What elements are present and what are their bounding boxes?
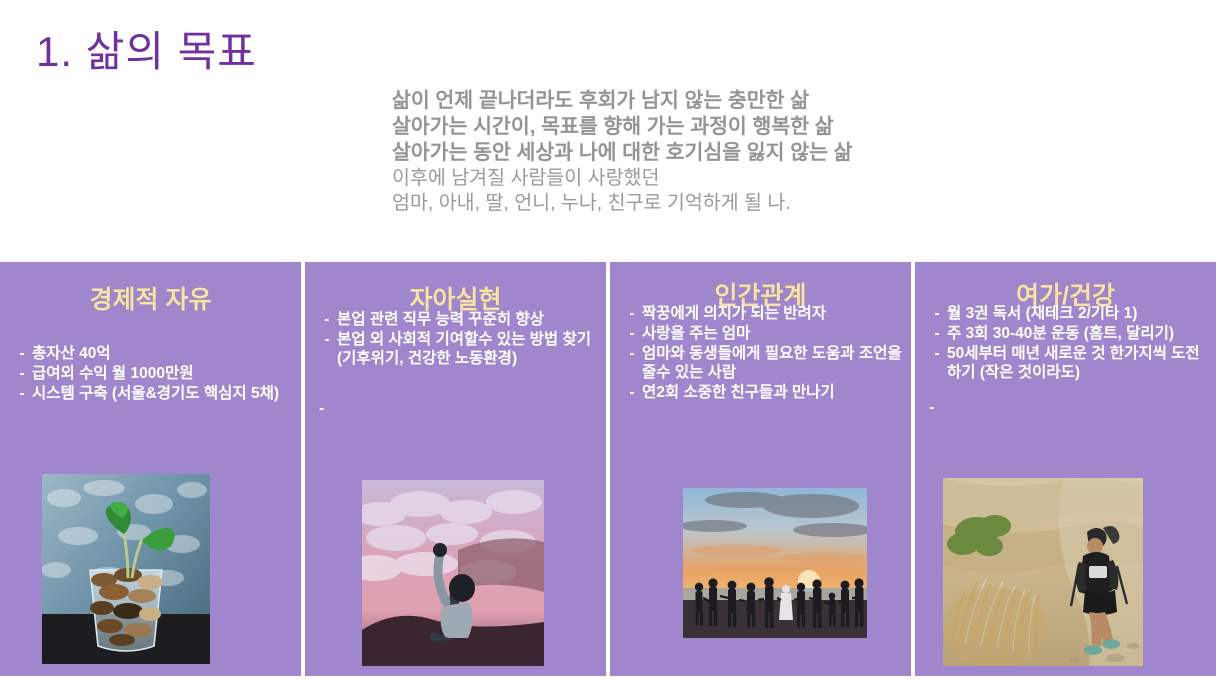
list-item: - 월 3권 독서 (재테크 2/기타 1)	[927, 304, 1208, 323]
list-item-label: 연2회 소중한 친구들과 만나기	[642, 383, 903, 402]
bullet-dash-icon: -	[927, 344, 947, 363]
intro-line: 살아가는 시간이, 목표를 향해 가는 과정이 행복한 삶	[392, 114, 1092, 140]
list-item-label: 사랑을 주는 엄마	[642, 324, 903, 343]
intro-paragraph: 삶이 언제 끝나더라도 후회가 남지 않는 충만한 삶 살아가는 시간이, 목표…	[392, 88, 1092, 216]
list-item-label: 본업 관련 직무 능력 꾸준히 향상	[337, 310, 598, 329]
list-item: - 엄마와 동생들에게 필요한 도움과 조언을 줄수 있는 사람	[622, 344, 903, 382]
bullet-dash-icon: -	[927, 324, 947, 343]
list-item-label: 주 3회 30-40분 운동 (홈트, 달리기)	[947, 324, 1208, 343]
list-item: - 본업 관련 직무 능력 꾸준히 향상	[317, 310, 598, 329]
list-item-label: 총자산 40억	[32, 344, 293, 363]
bullet-dash-icon: -	[622, 344, 642, 363]
panel-bullet-list: - 본업 관련 직무 능력 꾸준히 향상 - 본업 외 사회적 기여할수 있는 …	[317, 310, 598, 369]
panel-self-realization: 자아실현 - 본업 관련 직무 능력 꾸준히 향상 - 본업 외 사회적 기여할…	[305, 262, 606, 676]
panel-human-relationships: 인간관계 - 짝꿍에게 의지가 되는 반려자 - 사랑을 주는 엄마 - 엄마와…	[610, 262, 911, 676]
list-item-label: 짝꿍에게 의지가 되는 반려자	[642, 304, 903, 323]
panel-bullet-list: - 짝꿍에게 의지가 되는 반려자 - 사랑을 주는 엄마 - 엄마와 동생들에…	[622, 304, 903, 403]
bullet-dash-icon: -	[622, 383, 642, 402]
panel-title: 경제적 자유	[0, 280, 301, 316]
list-item: - 급여외 수익 월 1000만원	[12, 364, 293, 383]
bullet-dash-icon: -	[12, 344, 32, 363]
stray-bullet-dash-icon: -	[319, 399, 324, 418]
list-item-label: 50세부터 매년 새로운 것 한가지씩 도전하기 (작은 것이라도)	[947, 344, 1208, 382]
panel-bullet-list: - 총자산 40억 - 급여외 수익 월 1000만원 - 시스템 구축 (서울…	[12, 344, 293, 404]
bullet-dash-icon: -	[622, 304, 642, 323]
goal-panels: 경제적 자유 - 총자산 40억 - 급여외 수익 월 1000만원 - 시스템…	[0, 262, 1216, 676]
panel-leisure-health: 여가/건강 - 월 3권 독서 (재테크 2/기타 1) - 주 3회 30-4…	[915, 262, 1216, 676]
panel-photo-human-relationships	[683, 488, 867, 638]
list-item-label: 급여외 수익 월 1000만원	[32, 364, 293, 383]
panel-bullet-list: - 월 3권 독서 (재테크 2/기타 1) - 주 3회 30-40분 운동 …	[927, 304, 1208, 383]
list-item: - 시스템 구축 (서울&경기도 핵심지 5채)	[12, 384, 293, 403]
list-item-label: 월 3권 독서 (재테크 2/기타 1)	[947, 304, 1208, 323]
page-title: 1. 삶의 목표	[36, 18, 257, 79]
list-item: - 50세부터 매년 새로운 것 한가지씩 도전하기 (작은 것이라도)	[927, 344, 1208, 382]
list-item: - 주 3회 30-40분 운동 (홈트, 달리기)	[927, 324, 1208, 343]
bullet-dash-icon: -	[12, 364, 32, 383]
stray-bullet-dash-icon: -	[929, 398, 934, 417]
list-item-label: 본업 외 사회적 기여할수 있는 방법 찾기 (기후위기, 건강한 노동환경)	[337, 330, 598, 368]
list-item: - 본업 외 사회적 기여할수 있는 방법 찾기 (기후위기, 건강한 노동환경…	[317, 330, 598, 368]
bullet-dash-icon: -	[317, 330, 337, 349]
list-item: - 사랑을 주는 엄마	[622, 324, 903, 343]
bullet-dash-icon: -	[317, 310, 337, 329]
intro-line: 엄마, 아내, 딸, 언니, 누나, 친구로 기억하게 될 나.	[392, 191, 1092, 216]
list-item-label: 시스템 구축 (서울&경기도 핵심지 5채)	[32, 384, 293, 403]
intro-line: 이후에 남겨질 사람들이 사랑했던	[392, 166, 1092, 191]
panel-photo-leisure-health	[943, 478, 1143, 666]
intro-line: 삶이 언제 끝나더라도 후회가 남지 않는 충만한 삶	[392, 88, 1092, 114]
panel-photo-self-realization	[362, 480, 544, 666]
list-item: - 총자산 40억	[12, 344, 293, 363]
list-item: - 연2회 소중한 친구들과 만나기	[622, 383, 903, 402]
bullet-dash-icon: -	[927, 304, 947, 323]
panel-photo-economic-freedom	[42, 474, 210, 664]
bullet-dash-icon: -	[12, 384, 32, 403]
bullet-dash-icon: -	[622, 324, 642, 343]
panel-economic-freedom: 경제적 자유 - 총자산 40억 - 급여외 수익 월 1000만원 - 시스템…	[0, 262, 301, 676]
list-item-label: 엄마와 동생들에게 필요한 도움과 조언을 줄수 있는 사람	[642, 344, 903, 382]
intro-line: 살아가는 동안 세상과 나에 대한 호기심을 잃지 않는 삶	[392, 140, 1092, 166]
list-item: - 짝꿍에게 의지가 되는 반려자	[622, 304, 903, 323]
